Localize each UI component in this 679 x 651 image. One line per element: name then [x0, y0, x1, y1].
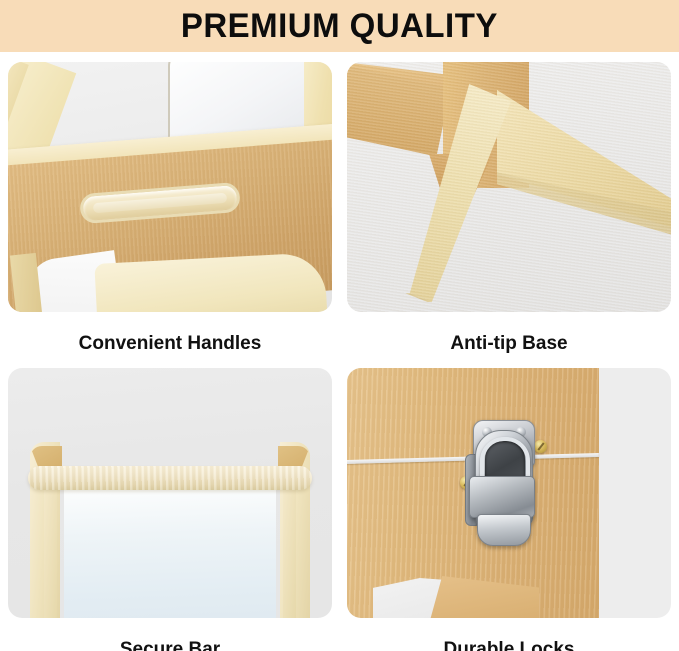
feature-caption-durable-locks: Durable Locks: [347, 640, 671, 651]
wood-grain-texture: [347, 62, 671, 312]
photo-secure-bar: [8, 368, 332, 618]
photo-durable-locks: [347, 368, 671, 618]
feature-caption-anti-tip-base: Anti-tip Base: [347, 334, 671, 355]
latch-tongue: [477, 514, 531, 546]
feature-cell-durable-locks: Durable Locks: [347, 368, 671, 651]
photo-anti-tip-base: [347, 62, 671, 312]
feature-cell-convenient-handles: Convenient Handles: [8, 62, 332, 355]
latch-lever: [469, 476, 535, 518]
feature-caption-secure-bar: Secure Bar: [8, 640, 332, 651]
page-title: PREMIUM QUALITY: [181, 9, 498, 43]
feature-cell-secure-bar: Secure Bar: [8, 368, 332, 651]
wood-post-left-inner: [44, 480, 57, 618]
feature-cell-anti-tip-base: Anti-tip Base: [347, 62, 671, 355]
photo-convenient-handles: [8, 62, 332, 312]
feature-grid: Convenient Handles Anti-tip Base: [0, 62, 679, 651]
premium-quality-banner: PREMIUM QUALITY: [0, 0, 679, 52]
secure-bar-rail: [28, 466, 312, 490]
white-board-panel: [64, 486, 276, 618]
wood-grain-texture: [28, 466, 312, 490]
wood-post-right-inner: [283, 480, 296, 618]
feature-caption-convenient-handles: Convenient Handles: [8, 334, 332, 355]
handle-cutout-opening: [93, 193, 227, 213]
brass-screw-icon: [534, 440, 547, 453]
